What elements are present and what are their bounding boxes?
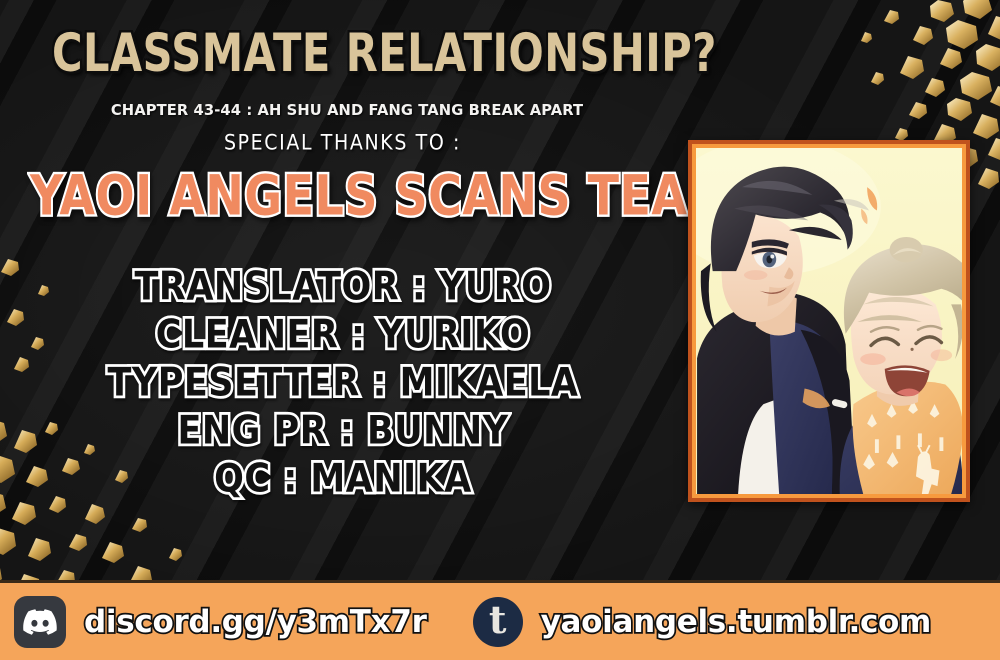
tumblr-link[interactable]: t yaoiangels.tumblr.com — [427, 583, 931, 660]
tumblr-icon: t — [473, 597, 523, 647]
discord-link[interactable]: discord.gg/y3mTx7r — [0, 583, 427, 660]
discord-icon — [14, 596, 66, 648]
footer-bar: discord.gg/y3mTx7r t yaoiangels.tumblr.c… — [0, 580, 1000, 660]
special-thanks-block: Special thanks to : Yaoi Angels Scans Te… — [30, 132, 655, 217]
credit-line: Eng PR : Bunny — [28, 412, 658, 451]
credits-page: Classmate Relationship? Chapter 43-44 : … — [0, 0, 1000, 660]
artwork-panel — [688, 140, 970, 502]
artwork-image — [696, 148, 962, 494]
special-thanks-label: Special thanks to : — [30, 131, 655, 156]
chapter-subtitle: Chapter 43-44 : Ah Shu and Fang Tang Bre… — [52, 71, 641, 119]
title-block: Classmate Relationship? Chapter 43-44 : … — [52, 22, 672, 119]
credit-line: Cleaner : Yuriko — [28, 316, 658, 355]
credits-list: Translator : Yuro Cleaner : Yuriko Types… — [28, 268, 658, 508]
scan-team-name: Yaoi Angels Scans Team — [30, 163, 655, 228]
credit-line: Translator : Yuro — [28, 268, 658, 307]
credit-line: QC : Manika — [28, 460, 658, 499]
discord-url-text: discord.gg/y3mTx7r — [84, 604, 427, 640]
tumblr-url-text: yaoiangels.tumblr.com — [541, 604, 931, 640]
tumblr-glyph: t — [489, 601, 507, 639]
credit-line: Typesetter : Mikaela — [28, 364, 658, 403]
